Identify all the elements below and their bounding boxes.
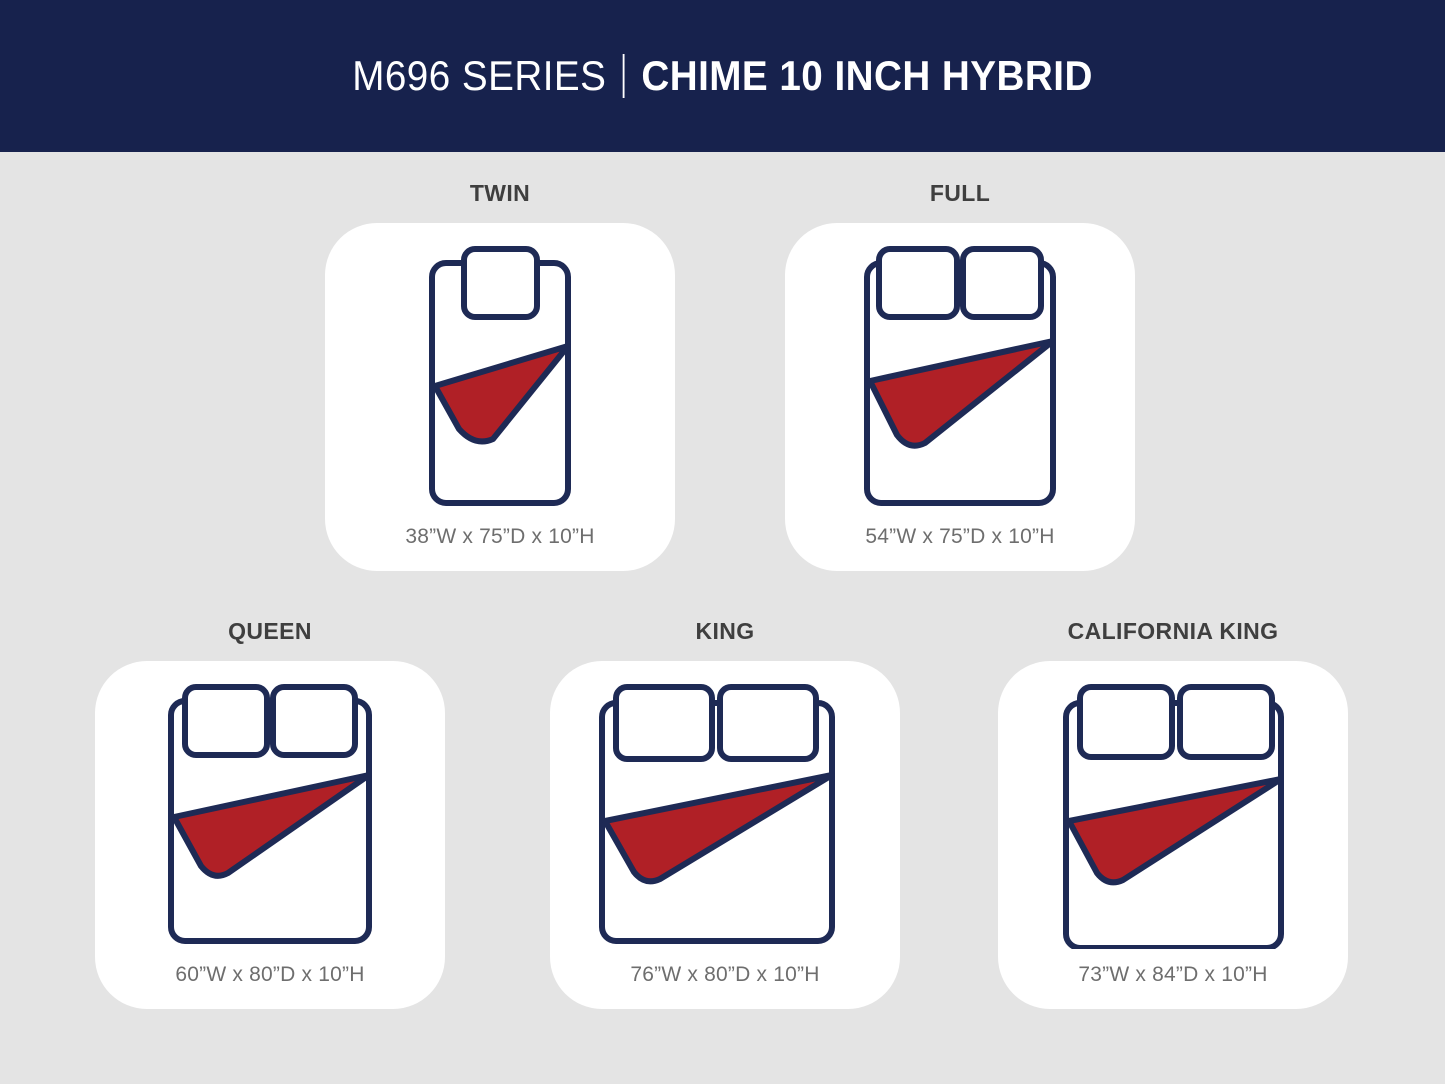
- size-dimensions-california-king: 73”W x 84”D x 10”H: [998, 963, 1348, 987]
- title-series: M696 SERIES: [352, 55, 606, 97]
- size-label-full: FULL: [785, 180, 1135, 207]
- title-divider-icon: [623, 54, 625, 98]
- size-card-queen[interactable]: 60”W x 80”D x 10”H: [95, 661, 445, 1009]
- bed-twin-icon: [325, 231, 675, 511]
- size-label-twin: TWIN: [325, 180, 675, 207]
- size-cell-queen: QUEEN 60”W x 80”D x 10”H: [95, 618, 445, 1009]
- title-model: CHIME 10 INCH HYBRID: [641, 55, 1092, 97]
- size-chart-grid: TWIN 38”W x 75”D x 10”H FULL: [0, 152, 1445, 1084]
- size-dimensions-twin: 38”W x 75”D x 10”H: [325, 525, 675, 549]
- bed-full-icon: [785, 231, 1135, 511]
- bed-king-icon: [550, 669, 900, 949]
- size-cell-twin: TWIN 38”W x 75”D x 10”H: [325, 180, 675, 571]
- size-cell-california-king: CALIFORNIA KING 73”W x 84”D x 10”H: [998, 618, 1348, 1009]
- size-cell-full: FULL 54”W x 75”D x 10”H: [785, 180, 1135, 571]
- size-card-twin[interactable]: 38”W x 75”D x 10”H: [325, 223, 675, 571]
- size-label-queen: QUEEN: [95, 618, 445, 645]
- page-header: M696 SERIES CHIME 10 INCH HYBRID: [0, 0, 1445, 152]
- size-card-king[interactable]: 76”W x 80”D x 10”H: [550, 661, 900, 1009]
- size-dimensions-full: 54”W x 75”D x 10”H: [785, 525, 1135, 549]
- page-title: M696 SERIES CHIME 10 INCH HYBRID: [352, 54, 1093, 98]
- size-dimensions-king: 76”W x 80”D x 10”H: [550, 963, 900, 987]
- size-card-california-king[interactable]: 73”W x 84”D x 10”H: [998, 661, 1348, 1009]
- size-card-full[interactable]: 54”W x 75”D x 10”H: [785, 223, 1135, 571]
- bed-california-king-icon: [998, 669, 1348, 949]
- size-label-king: KING: [550, 618, 900, 645]
- size-label-california-king: CALIFORNIA KING: [998, 618, 1348, 645]
- size-dimensions-queen: 60”W x 80”D x 10”H: [95, 963, 445, 987]
- bed-queen-icon: [95, 669, 445, 949]
- size-cell-king: KING 76”W x 80”D x 10”H: [550, 618, 900, 1009]
